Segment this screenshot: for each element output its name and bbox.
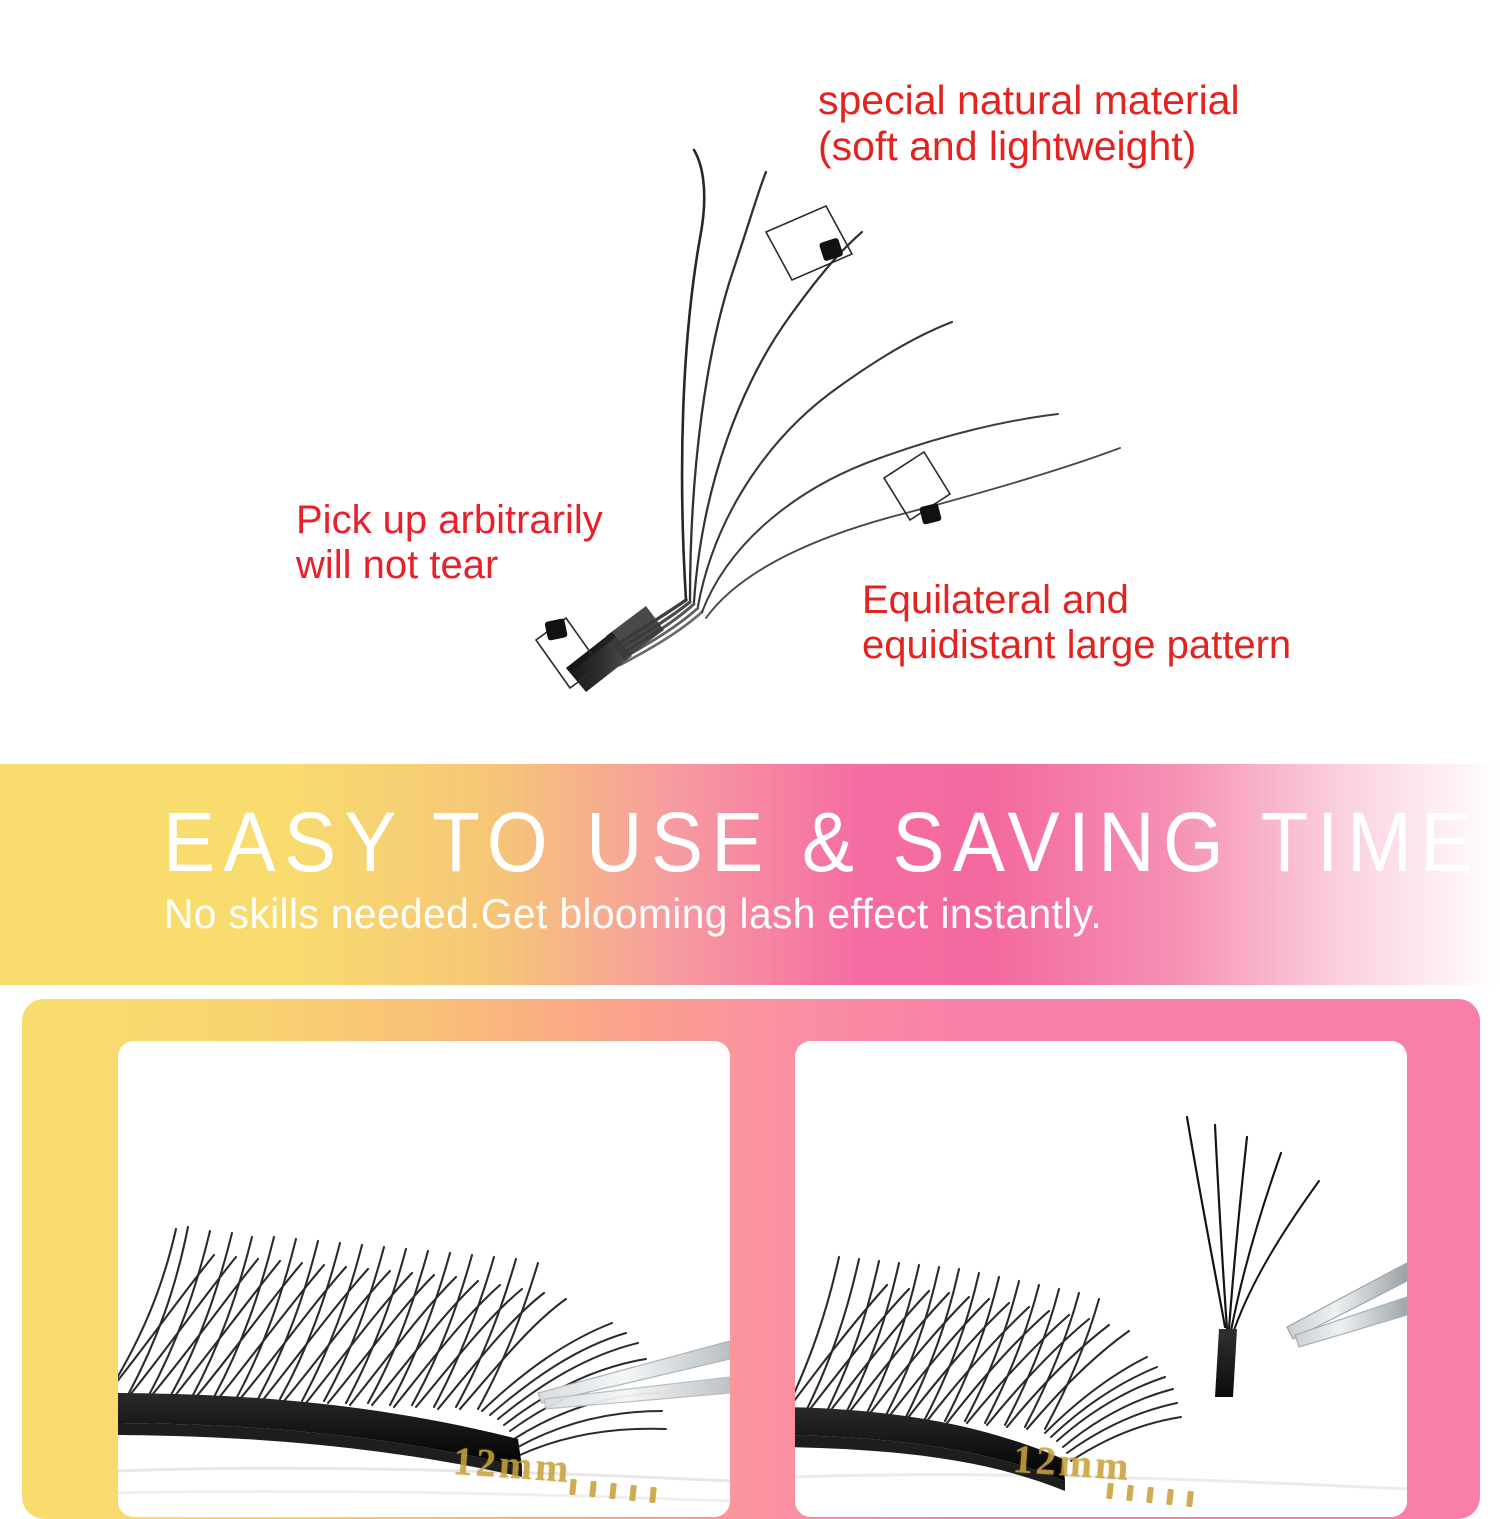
lash-tray-photo-left xyxy=(118,1041,730,1517)
marker-middle xyxy=(884,452,950,525)
tray-length-label-right: 12mm xyxy=(1012,1435,1134,1490)
photo-gallery-frame: 12mm xyxy=(22,999,1480,1519)
photo-panel-right: 12mm xyxy=(795,1041,1407,1517)
diagram-section: special natural material (soft and light… xyxy=(0,0,1500,764)
marker-top xyxy=(766,206,852,280)
callout-pick-up-arbitrarily: Pick up arbitrarily will not tear xyxy=(296,498,603,588)
banner-subtitle: No skills needed.Get blooming lash effec… xyxy=(164,890,1102,938)
banner-title: EASY TO USE & SAVING TIME xyxy=(163,800,1307,884)
headline-banner: EASY TO USE & SAVING TIME No skills need… xyxy=(0,764,1500,985)
lash-strands xyxy=(682,150,1120,618)
tray-length-label-left: 12mm xyxy=(452,1437,574,1492)
callout-equilateral-equidistant: Equilateral and equidistant large patter… xyxy=(862,578,1291,668)
photo-panel-left: 12mm xyxy=(118,1041,730,1517)
callout-special-natural-material: special natural material (soft and light… xyxy=(818,78,1240,170)
